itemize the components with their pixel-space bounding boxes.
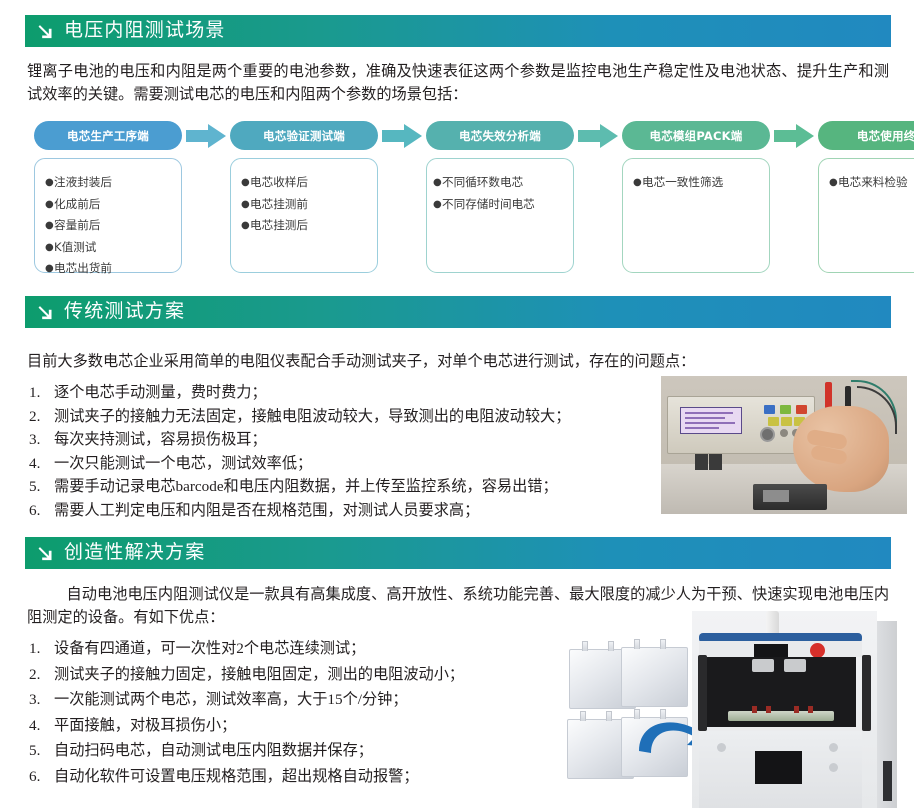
bullet-icon: ●: [241, 172, 250, 194]
battery-cell-under-test: [753, 484, 827, 510]
flow-item-label: 不同存储时间电芯: [442, 194, 535, 216]
section-title: 电压内阻测试场景: [64, 21, 226, 40]
flow-item: ●不同循环数电芯: [433, 172, 565, 194]
flow-arrow-1: [186, 124, 226, 148]
emergency-stop-button[interactable]: [810, 643, 825, 658]
flow-diagram: 电芯生产工序端 ●注液封装后 ●化成前后 ●容量前后 ●K值测试 ●电芯出货前 …: [34, 121, 882, 274]
flow-item-label: 电芯来料检验: [838, 172, 908, 194]
list-text: 测试夹子的接触力固定，接触电阻固定，测出的电阻波动小；: [54, 662, 547, 688]
machine-control-screen: [755, 751, 802, 784]
flow-item: ●化成前后: [45, 194, 173, 216]
machine-base-panel: [699, 731, 862, 808]
list-number: 3.: [27, 428, 54, 452]
flow-stage-body: ●注液封装后 ●化成前后 ●容量前后 ●K值测试 ●电芯出货前: [34, 158, 182, 273]
creative-advantage-list: 1.设备有四通道，可一次性对2个电芯连续测试； 2.测试夹子的接触力固定，接触电…: [27, 636, 547, 789]
meter-button-red: [796, 405, 807, 414]
document-page: 电压内阻测试场景 锂离子电池的电压和内阻是两个重要的电池参数，准确及快速表征这两…: [0, 0, 914, 810]
flow-item-label: 化成前后: [54, 194, 100, 216]
bullet-icon: ●: [829, 172, 838, 194]
list-text: 一次只能测试一个电芯，测试效率低；: [54, 452, 652, 476]
list-number: 2.: [27, 405, 54, 429]
bullet-icon: ●: [633, 172, 642, 194]
list-number: 4.: [27, 452, 54, 476]
flow-item-label: 电芯挂测后: [250, 215, 308, 237]
flow-stage-caption: 电芯模组PACK端: [622, 121, 770, 150]
flow-item-label: 电芯一致性筛选: [642, 172, 723, 194]
flow-item: ●电芯一致性筛选: [633, 172, 761, 194]
bullet-icon: ●: [433, 194, 442, 216]
list-text: 自动扫码电芯，自动测试电压内阻数据并保存；: [54, 738, 547, 764]
list-text: 平面接触，对极耳损伤小；: [54, 713, 547, 739]
list-item: 4.平面接触，对极耳损伤小；: [27, 713, 547, 739]
flow-item: ●电芯挂测后: [241, 215, 369, 237]
flow-item-label: 电芯出货前: [54, 258, 112, 280]
list-item: 5.需要手动记录电芯barcode和电压内阻数据，并上传至监控系统，容易出错；: [27, 475, 652, 499]
list-item: 4.一次只能测试一个电芯，测试效率低；: [27, 452, 652, 476]
arrow-down-right-icon: [36, 303, 55, 322]
machine-display: [754, 644, 788, 657]
flow-stage-body: ●不同循环数电芯 ●不同存储时间电芯: [426, 158, 574, 273]
list-text: 每次夹持测试，容易损伤极耳；: [54, 428, 652, 452]
flow-arrow-4: [774, 124, 814, 148]
list-item: 1.设备有四通道，可一次性对2个电芯连续测试；: [27, 636, 547, 662]
section-title: 传统测试方案: [64, 302, 185, 321]
list-text: 测试夹子的接触力无法固定，接触电阻波动较大，导致测出的电阻波动较大；: [54, 405, 652, 429]
list-number: 2.: [27, 662, 54, 688]
list-item: 1.逐个电芯手动测量，费时费力；: [27, 381, 652, 405]
bullet-icon: ●: [45, 215, 54, 237]
flow-item: ●电芯收样后: [241, 172, 369, 194]
machine-vent: [883, 761, 892, 801]
flow-stage-body: ●电芯收样后 ●电芯挂测前 ●电芯挂测后: [230, 158, 378, 273]
flow-stage-5: 电芯使用终端 ●电芯来料检验: [818, 121, 914, 273]
flow-item: ●不同存储时间电芯: [433, 194, 565, 216]
flow-item: ●电芯挂测前: [241, 194, 369, 216]
arrow-down-right-icon: [36, 22, 55, 41]
flow-item: ●容量前后: [45, 215, 173, 237]
meter-display: [680, 407, 742, 434]
list-number: 3.: [27, 687, 54, 713]
bullet-icon: ●: [241, 215, 250, 237]
bullet-icon: ●: [45, 258, 54, 280]
flow-item: ●K值测试: [45, 237, 173, 259]
list-number: 6.: [27, 499, 54, 523]
list-number: 5.: [27, 738, 54, 764]
section-paragraph-scenarios: 锂离子电池的电压和内阻是两个重要的电池参数，准确及快速表征这两个参数是监控电池生…: [27, 60, 889, 106]
list-number: 6.: [27, 764, 54, 790]
list-item: 2.测试夹子的接触力无法固定，接触电阻波动较大，导致测出的电阻波动较大；: [27, 405, 652, 429]
flow-stage-2: 电芯验证测试端 ●电芯收样后 ●电芯挂测前 ●电芯挂测后: [230, 121, 378, 273]
list-text: 逐个电芯手动测量，费时费力；: [54, 381, 652, 405]
flow-stage-caption: 电芯使用终端: [818, 121, 914, 150]
flow-item-label: 电芯收样后: [250, 172, 308, 194]
section-paragraph-traditional: 目前大多数电芯企业采用简单的电阻仪表配合手动测试夹子，对单个电芯进行测试，存在的…: [27, 350, 889, 373]
battery-cell-sample: [621, 647, 688, 707]
auto-test-machine: [692, 611, 877, 808]
flow-arrow-3: [578, 124, 618, 148]
meter-knob: [760, 427, 775, 442]
list-item: 3.一次能测试两个电芯，测试效率高，大于15个/分钟；: [27, 687, 547, 713]
flow-stage-body: ●电芯一致性筛选: [622, 158, 770, 273]
bullet-icon: ●: [45, 194, 54, 216]
list-text: 需要手动记录电芯barcode和电压内阻数据，并上传至监控系统，容易出错；: [54, 475, 652, 499]
flow-stage-4: 电芯模组PACK端 ●电芯一致性筛选: [622, 121, 770, 273]
bullet-icon: ●: [45, 172, 54, 194]
bullet-icon: ●: [433, 172, 442, 194]
list-text: 需要人工判定电压和内阻是否在规格范围，对测试人员要求高；: [54, 499, 652, 523]
traditional-problem-list: 1.逐个电芯手动测量，费时费力； 2.测试夹子的接触力无法固定，接触电阻波动较大…: [27, 381, 652, 522]
meter-button-green: [780, 405, 791, 414]
bullet-icon: ●: [45, 237, 54, 259]
flow-item-label: 注液封装后: [54, 172, 112, 194]
list-number: 4.: [27, 713, 54, 739]
flow-item-label: 容量前后: [54, 215, 100, 237]
flow-stage-caption: 电芯生产工序端: [34, 121, 182, 150]
flow-item-label: 不同循环数电芯: [442, 172, 523, 194]
list-item: 2.测试夹子的接触力固定，接触电阻固定，测出的电阻波动小；: [27, 662, 547, 688]
flow-stage-body: ●电芯来料检验: [818, 158, 914, 273]
list-item: 5.自动扫码电芯，自动测试电压内阻数据并保存；: [27, 738, 547, 764]
meter-button-blue: [764, 405, 775, 414]
section-title: 创造性解决方案: [64, 543, 205, 562]
section-header-creative: 创造性解决方案: [25, 537, 891, 569]
flow-stage-caption: 电芯失效分析端: [426, 121, 574, 150]
list-item: 6.需要人工判定电压和内阻是否在规格范围，对测试人员要求高；: [27, 499, 652, 523]
flow-item: ●电芯出货前: [45, 258, 173, 280]
flow-stage-caption: 电芯验证测试端: [230, 121, 378, 150]
list-number: 1.: [27, 636, 54, 662]
flow-arrow-2: [382, 124, 422, 148]
list-text: 自动化软件可设置电压规格范围，超出规格自动报警；: [54, 764, 547, 790]
flow-stage-1: 电芯生产工序端 ●注液封装后 ●化成前后 ●容量前后 ●K值测试 ●电芯出货前: [34, 121, 182, 273]
list-text: 一次能测试两个电芯，测试效率高，大于15个/分钟；: [54, 687, 547, 713]
bullet-icon: ●: [241, 194, 250, 216]
section-header-scenarios: 电压内阻测试场景: [25, 15, 891, 47]
list-item: 3.每次夹持测试，容易损伤极耳；: [27, 428, 652, 452]
list-number: 5.: [27, 475, 54, 499]
flow-item: ●电芯来料检验: [829, 172, 914, 194]
list-number: 1.: [27, 381, 54, 405]
flow-item-label: 电芯挂测前: [250, 194, 308, 216]
flow-stage-3: 电芯失效分析端 ●不同循环数电芯 ●不同存储时间电芯: [426, 121, 574, 273]
section-header-traditional: 传统测试方案: [25, 296, 891, 328]
list-item: 6.自动化软件可设置电压规格范围，超出规格自动报警；: [27, 764, 547, 790]
flow-item-label: K值测试: [54, 237, 96, 259]
bench-meter-photo: [661, 376, 907, 514]
arrow-down-right-icon: [36, 544, 55, 563]
list-text: 设备有四通道，可一次性对2个电芯连续测试；: [54, 636, 547, 662]
flow-item: ●注液封装后: [45, 172, 173, 194]
auto-tester-photo: [561, 611, 909, 808]
test-fixture-tray: [728, 711, 834, 721]
